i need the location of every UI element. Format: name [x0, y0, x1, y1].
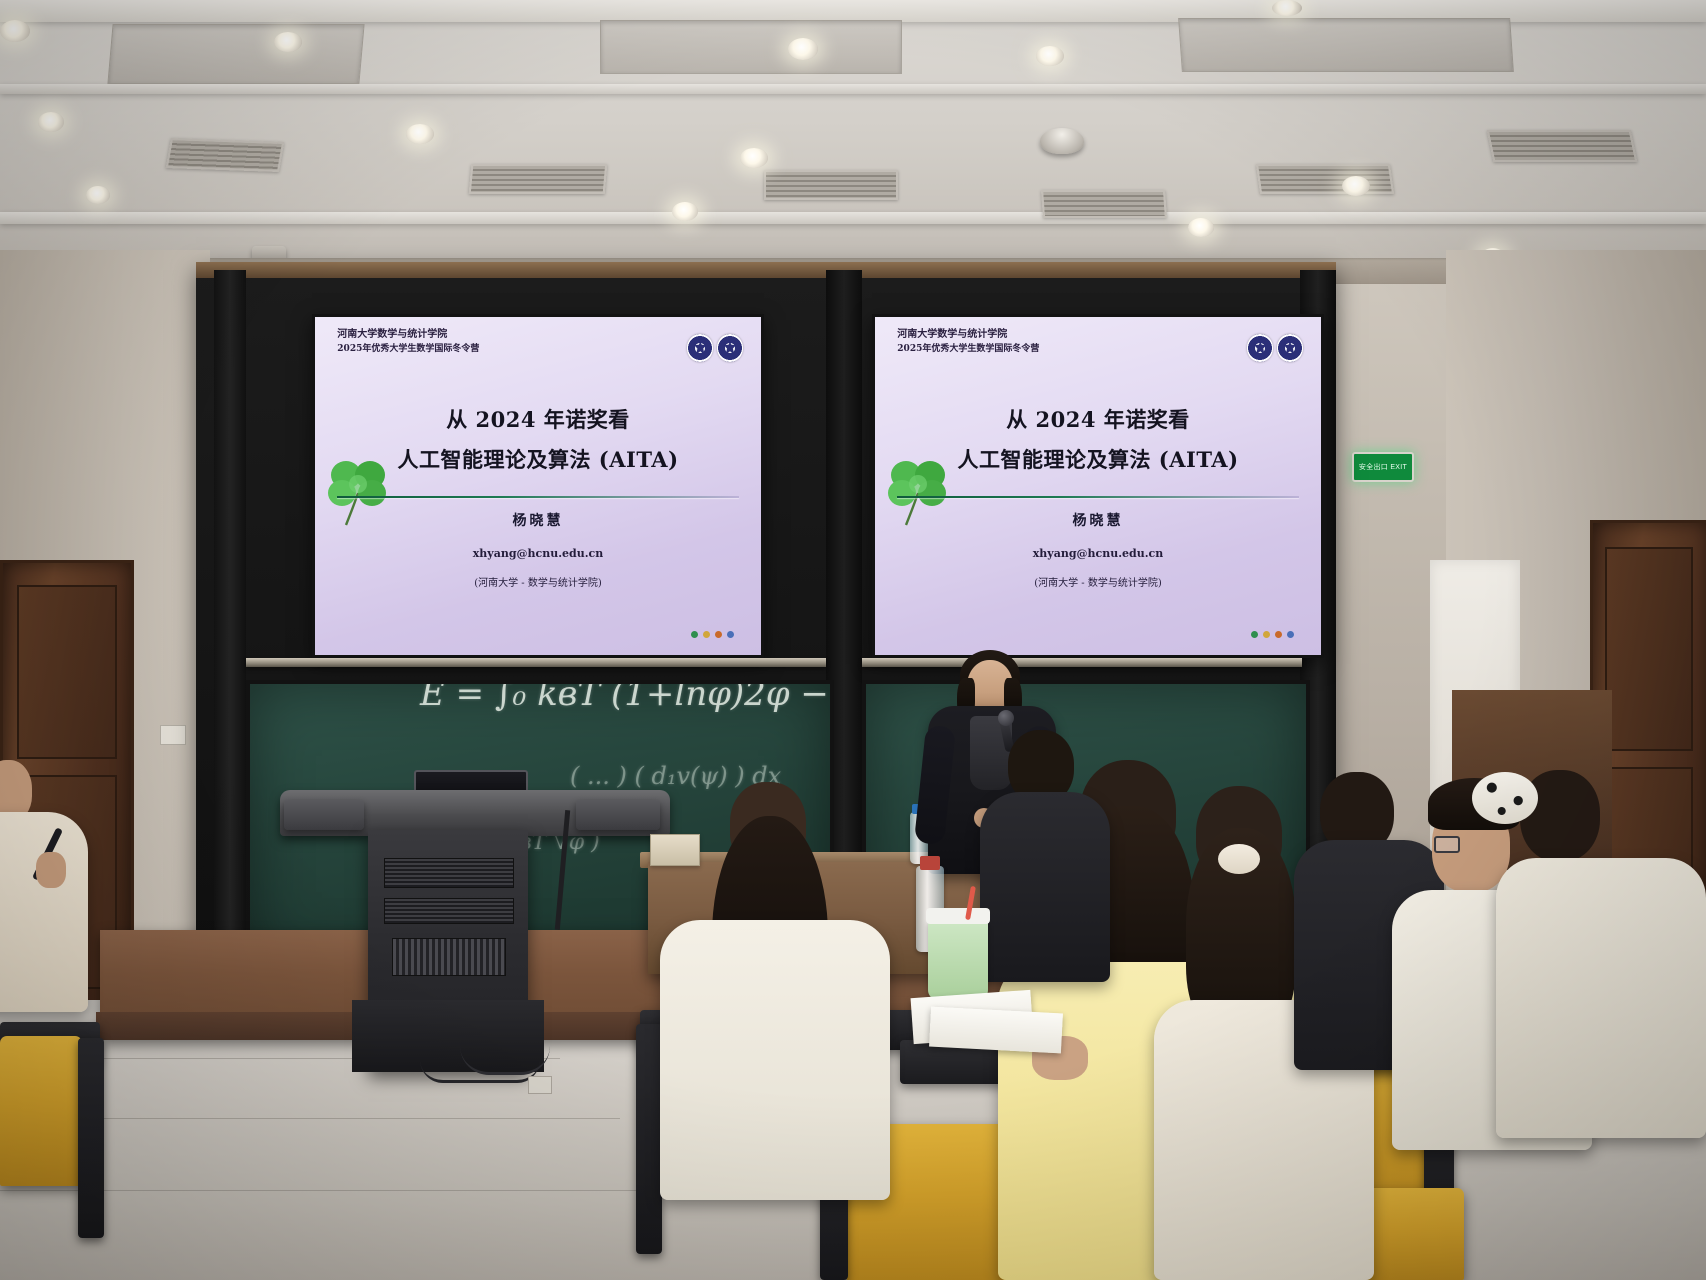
eyeglasses — [1434, 836, 1460, 853]
slide-divider-rule — [337, 496, 738, 498]
student-body — [660, 920, 890, 1200]
mathematics-school-seal-icon — [1277, 334, 1303, 362]
projection-screen-right: 河南大学数学与统计学院 2025年优秀大学生数学国际冬令营 从 2024 年诺奖… — [872, 314, 1324, 658]
ceiling-downlight — [672, 202, 698, 221]
water-bottle-cap — [920, 856, 940, 870]
smoke-detector — [1040, 128, 1084, 154]
henan-university-seal-icon — [687, 334, 713, 362]
slide-right: 河南大学数学与统计学院 2025年优秀大学生数学国际冬令营 从 2024 年诺奖… — [875, 317, 1321, 655]
chalk-rail — [862, 658, 1302, 667]
slide-progress-dots — [1251, 631, 1294, 638]
ceiling-air-vent — [469, 164, 608, 194]
cup-lid — [926, 908, 990, 924]
ceiling-downlight — [740, 148, 768, 168]
hair-scrunchie — [1218, 844, 1260, 874]
ceiling-downlight — [1188, 218, 1214, 237]
student-body — [980, 792, 1110, 982]
slide-header-line2: 2025年优秀大学生数学国际冬令营 — [337, 343, 479, 357]
ceiling-panel — [107, 24, 364, 84]
slide-affiliation: (河南大学 - 数学与统计学院) — [875, 574, 1321, 589]
ceiling-downlight — [1272, 0, 1302, 16]
slide-header-line2: 2025年优秀大学生数学国际冬令营 — [897, 343, 1039, 357]
student-body — [0, 812, 88, 1012]
lectern-pc-vent — [392, 938, 506, 976]
slide-dot — [1287, 631, 1294, 638]
exit-sign: 安全出口 EXIT — [1352, 452, 1414, 482]
slide-header: 河南大学数学与统计学院 2025年优秀大学生数学国际冬令营 — [337, 327, 479, 356]
microphone-head — [998, 710, 1014, 726]
slide-dot — [1251, 631, 1258, 638]
ceiling-downlight — [1342, 176, 1370, 196]
tissue-box[interactable] — [650, 834, 700, 866]
slide-dot — [703, 631, 710, 638]
ceiling-downlight — [86, 186, 110, 204]
slide-title-line1: 从 2024 年诺奖看 — [875, 405, 1321, 435]
auditorium-seat[interactable] — [0, 1036, 82, 1186]
hair-scrunchie — [1472, 772, 1538, 824]
slide-logos — [1247, 334, 1303, 362]
slide-author: 杨晓慧 — [875, 510, 1321, 530]
board-left-edge — [214, 270, 246, 960]
slide-dot — [691, 631, 698, 638]
ceiling-downlight — [788, 38, 818, 60]
ceiling-downlight — [0, 20, 30, 42]
slide-dot — [1275, 631, 1282, 638]
slide-email: xhyang@hcnu.edu.cn — [875, 547, 1321, 560]
paper-sheet[interactable] — [929, 1007, 1063, 1054]
floor-outlet[interactable] — [528, 1076, 552, 1094]
slide-left: 河南大学数学与统计学院 2025年优秀大学生数学国际冬令营 从 2024 年诺奖… — [315, 317, 761, 655]
henan-university-seal-icon — [1247, 334, 1273, 362]
slide-dot — [727, 631, 734, 638]
slide-logos — [687, 334, 743, 362]
chalk-equation-line1: Ė = ∫₀ kвT (1+lnφ)2φ − 2φ U(ω)dx — [420, 680, 834, 714]
student-hand — [36, 852, 66, 888]
chalk-rail — [246, 658, 826, 667]
ceiling-beam — [0, 84, 1706, 94]
lectern-equipment-slot — [384, 898, 514, 924]
ceiling-downlight — [38, 112, 64, 132]
ceiling-panel — [1178, 18, 1514, 72]
slide-header: 河南大学数学与统计学院 2025年优秀大学生数学国际冬令营 — [897, 327, 1039, 356]
slide-title-line2: 人工智能理论及算法 (AITA) — [315, 445, 761, 475]
lectern-equipment-slot — [384, 858, 514, 888]
ceiling-air-vent — [764, 170, 898, 200]
seat-armrest — [78, 1038, 104, 1238]
ceiling-downlight — [1036, 46, 1064, 66]
slide-dot — [1263, 631, 1270, 638]
exit-sign-label: 安全出口 EXIT — [1359, 462, 1407, 472]
ceiling-air-vent — [1487, 130, 1638, 162]
wall-outlet[interactable] — [160, 725, 186, 745]
slide-title-line2: 人工智能理论及算法 (AITA) — [875, 445, 1321, 475]
slide-divider-rule — [897, 496, 1298, 498]
lecture-hall-photo: 安全出口 EXIT 河南大学数学与统计学院 2025年优秀大学生数学国际冬令营 — [0, 0, 1706, 1280]
lectern-right-wing — [576, 800, 660, 830]
ceiling-beam — [0, 212, 1706, 224]
slide-dot — [715, 631, 722, 638]
slide-header-line1: 河南大学数学与统计学院 — [337, 327, 479, 343]
slide-progress-dots — [691, 631, 734, 638]
slide-affiliation: (河南大学 - 数学与统计学院) — [315, 574, 761, 589]
ceiling-air-vent — [166, 138, 285, 172]
drink-cup[interactable] — [928, 918, 988, 1000]
slide-email: xhyang@hcnu.edu.cn — [315, 547, 761, 560]
ceiling-downlight — [406, 124, 434, 144]
projection-screen-left: 河南大学数学与统计学院 2025年优秀大学生数学国际冬令营 从 2024 年诺奖… — [312, 314, 764, 658]
seat-armrest — [636, 1024, 662, 1254]
ceiling-downlight — [274, 32, 302, 52]
slide-title-line1: 从 2024 年诺奖看 — [315, 405, 761, 435]
ceiling-air-vent — [1041, 190, 1167, 218]
student-body — [1496, 858, 1706, 1138]
slide-author: 杨晓慧 — [315, 510, 761, 530]
ceiling-air-vent — [1256, 164, 1394, 194]
ceiling-panel — [600, 20, 902, 74]
mathematics-school-seal-icon — [717, 334, 743, 362]
slide-header-line1: 河南大学数学与统计学院 — [897, 327, 1039, 343]
board-wall-top-trim — [196, 262, 1336, 278]
lectern-left-wing — [284, 800, 364, 830]
